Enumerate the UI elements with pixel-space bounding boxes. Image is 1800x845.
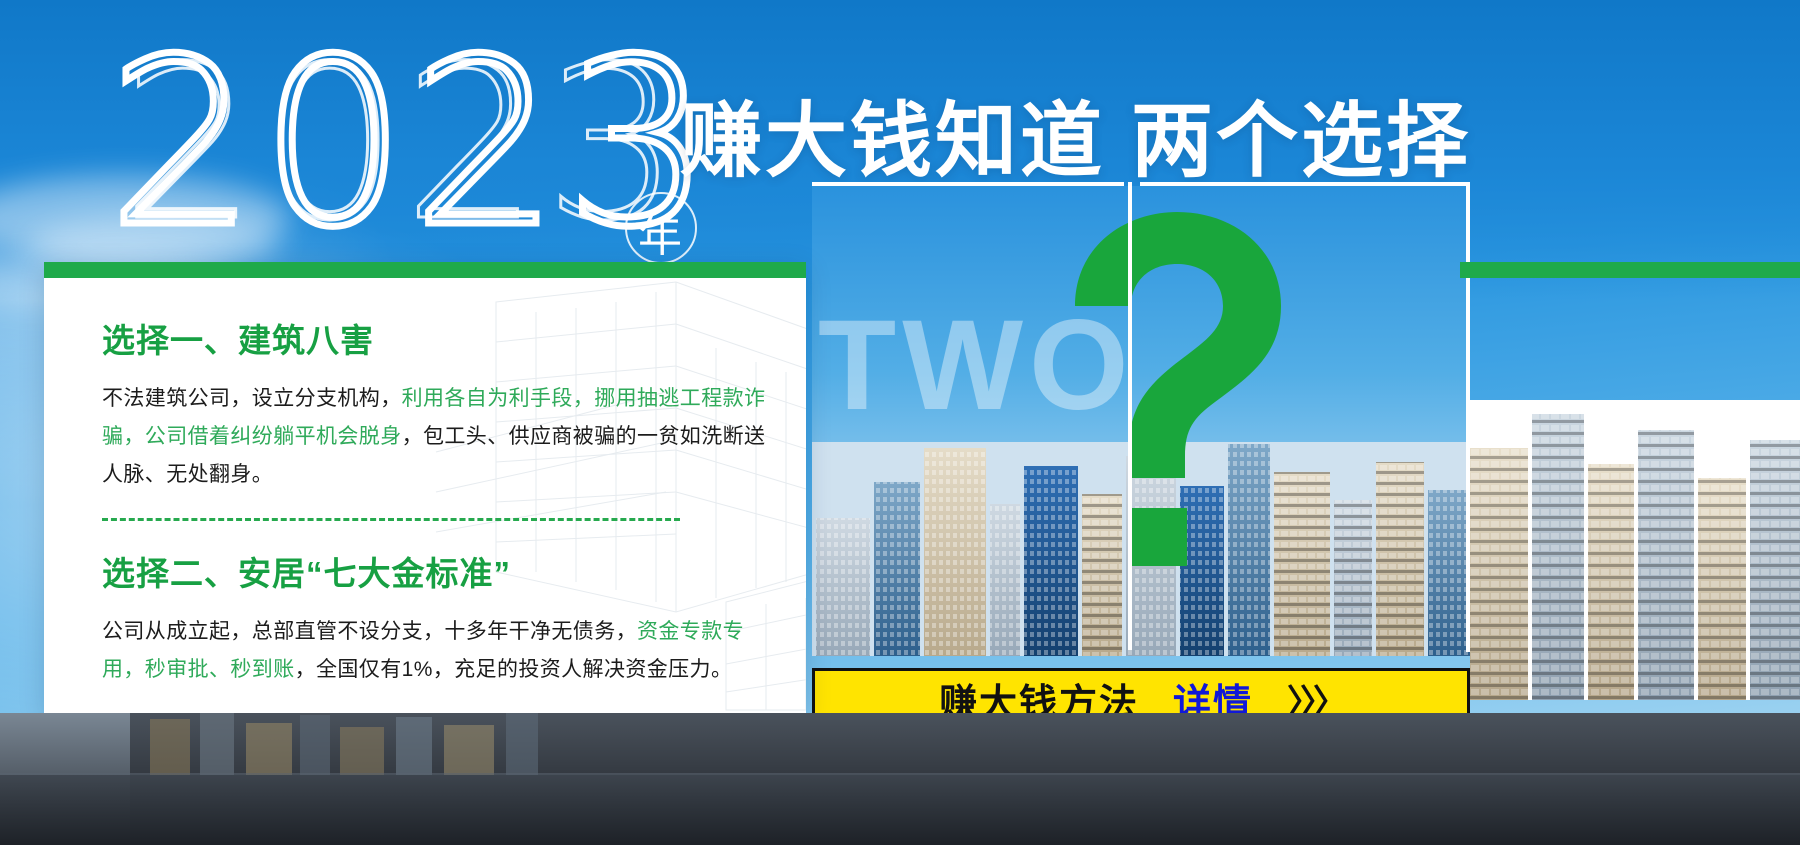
- headline-part-2: 两个选择: [1131, 96, 1471, 187]
- promo-banner: 2023 2023 年 赚大钱知道两个选择 TWO CHOICES: [0, 0, 1800, 845]
- section-2-body: 公司从成立起，总部直管不设分支，十多年干净无债务，资金专款专用，秒审批、秒到账，…: [102, 613, 772, 689]
- right-image-panel: TWO CHOICES: [812, 186, 1470, 656]
- right-buildings-photo: [1470, 400, 1800, 700]
- section-1-body: 不法建筑公司，设立分支机构，利用各自为利手段，挪用抽逃工程款诈骗，公司借着纠纷躺…: [102, 380, 772, 494]
- section-divider: [102, 518, 680, 521]
- section-1-body-plain: 不法建筑公司，设立分支机构，: [102, 387, 402, 410]
- section-2-body-plain: 公司从成立起，总部直管不设分支，十多年干净无债务，: [102, 620, 637, 643]
- section-1-title: 选择一、建筑八害: [102, 314, 772, 362]
- headline: 赚大钱知道两个选择: [680, 74, 1471, 193]
- headline-part-1: 赚大钱知道: [680, 96, 1105, 187]
- green-accent-strip: [1460, 262, 1800, 278]
- bottom-photo-strip: [0, 713, 1800, 845]
- water-reflection: [0, 773, 1800, 845]
- panel-divider-vertical: [1128, 182, 1132, 650]
- question-mark-icon: [1055, 210, 1285, 615]
- section-2-body-plain-2: ，全国仅有1%，充足的投资人解决资金压力。: [295, 658, 733, 681]
- section-2-title: 选择二、安居“七大金标准”: [102, 547, 772, 595]
- card-top-accent-bar: [44, 262, 806, 278]
- card-content: 选择一、建筑八害 不法建筑公司，设立分支机构，利用各自为利手段，挪用抽逃工程款诈…: [102, 314, 772, 689]
- content-card: 选择一、建筑八害 不法建筑公司，设立分支机构，利用各自为利手段，挪用抽逃工程款诈…: [44, 262, 806, 714]
